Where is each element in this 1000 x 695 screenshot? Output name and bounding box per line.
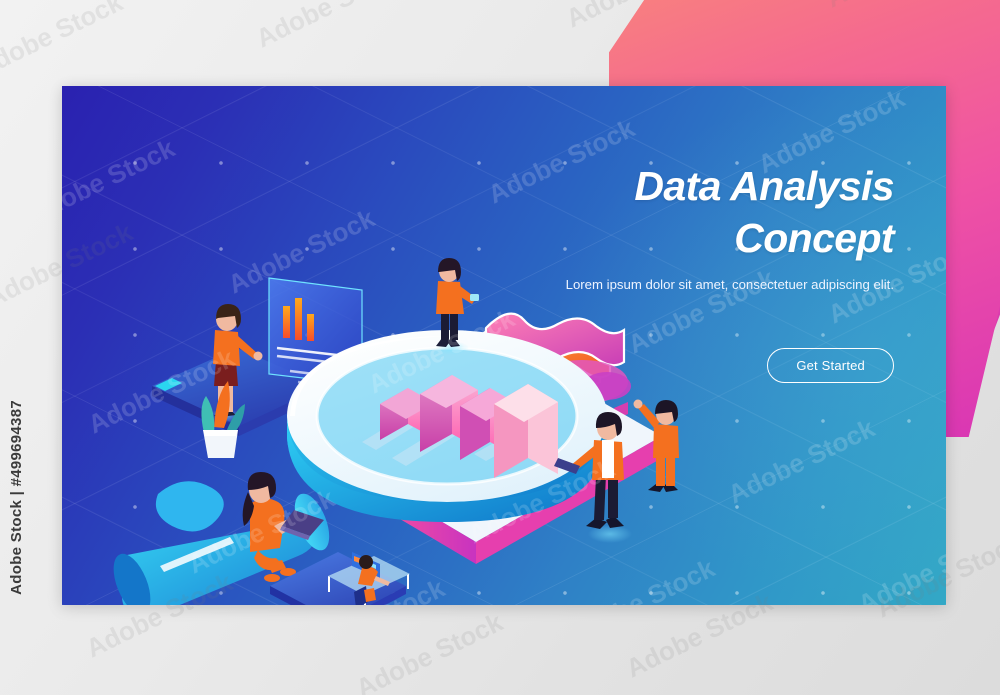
headline-line-1: Data Analysis xyxy=(434,160,894,212)
stock-id-caption: Adobe Stock | #499694387 xyxy=(8,400,25,595)
page-title: Data Analysis Concept xyxy=(434,160,894,265)
magnifier-over-bar-chart xyxy=(287,330,607,522)
desk-workstation xyxy=(270,552,410,605)
subheadline: Lorem ipsum dolor sit amet, consectetuer… xyxy=(564,276,894,295)
screen-bar-2 xyxy=(295,298,302,340)
hero-banner: Adobe Stock Adobe Stock Adobe Stock Adob… xyxy=(62,86,946,605)
screenshot-root: Adobe Stock Adobe Stock Adobe Stock Adob… xyxy=(0,0,1000,695)
screen-bar-1 xyxy=(283,306,290,338)
screen-bar-3 xyxy=(307,314,314,341)
headline-line-2: Concept xyxy=(434,212,894,264)
get-started-button[interactable]: Get Started xyxy=(767,348,894,383)
decor-pill xyxy=(156,481,224,531)
